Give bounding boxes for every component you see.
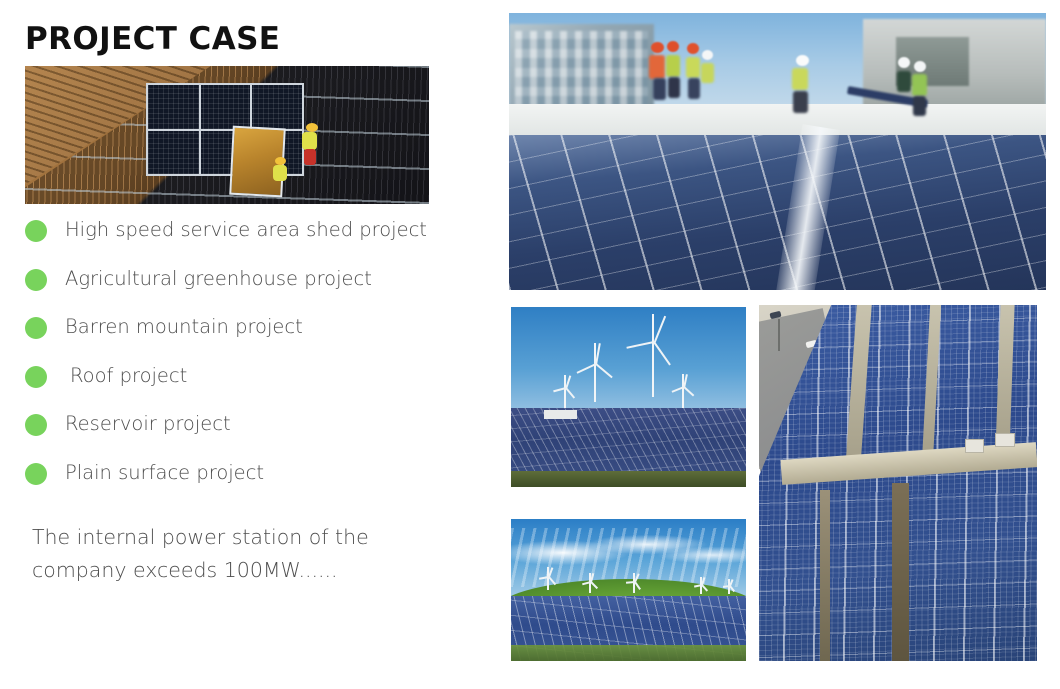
- list-item-label: Agricultural greenhouse project: [65, 267, 372, 291]
- project-case-slide: PROJECT CASE: [0, 0, 1060, 689]
- turbines-foreground-grass: [511, 471, 746, 487]
- worker-1-helmet: [306, 123, 318, 132]
- turbines-sky: [511, 307, 746, 419]
- turbines-service-shed: [544, 410, 577, 419]
- summary-line-2: company exceeds 100MW......: [32, 554, 452, 587]
- hills-wind-turbine-3: [626, 573, 642, 593]
- turbine-blade: [702, 585, 709, 592]
- page-title: PROJECT CASE: [25, 21, 280, 57]
- turbine-blade: [566, 388, 576, 399]
- wind-turbine-medium: [579, 343, 611, 402]
- hills-wind-turbine-2: [582, 573, 598, 593]
- hero-worker-5-legs: [793, 91, 808, 113]
- hero-worker-2-helmet: [667, 41, 679, 52]
- hero-worker-4-vest: [701, 63, 714, 83]
- project-type-list: High speed service area shed project Agr…: [25, 218, 465, 510]
- hero-worker-3-legs: [688, 78, 700, 99]
- hero-worker-1-legs: [653, 78, 666, 100]
- turbine-blade: [653, 316, 666, 345]
- turbine-mast: [682, 374, 684, 408]
- bullet-dot-icon: [25, 463, 47, 485]
- turbines-photo-canvas: [511, 307, 746, 487]
- rooftop-solar-panel-installation-photo: [25, 66, 429, 204]
- worker-1-vest: [302, 132, 317, 150]
- roof-photo-canvas: [25, 66, 429, 204]
- summary-paragraph: The internal power station of the compan…: [32, 521, 452, 587]
- hero-worker-7-legs: [913, 96, 926, 116]
- worker-2-vest: [273, 165, 287, 181]
- list-item[interactable]: High speed service area shed project: [25, 218, 465, 267]
- turbine-blade: [548, 577, 556, 586]
- turbine-blade: [723, 585, 730, 588]
- hero-foreground-panels: [509, 135, 1046, 290]
- hills-wind-turbine-5: [723, 579, 736, 595]
- turbine-mast: [564, 375, 566, 407]
- wind-turbines-solar-farm-photo: [511, 307, 746, 487]
- hero-worker-2-vest: [666, 55, 680, 77]
- list-item-label: High speed service area shed project: [65, 218, 427, 242]
- hero-worker-5-vest: [792, 68, 808, 90]
- aerial-rooftop-solar-array-photo: [759, 305, 1037, 661]
- turbine-blade: [634, 581, 641, 590]
- turbine-mast: [652, 314, 654, 397]
- hills-wind-turbine-1: [539, 567, 557, 590]
- list-item[interactable]: Agricultural greenhouse project: [25, 267, 465, 316]
- bullet-dot-icon: [25, 220, 47, 242]
- list-item[interactable]: Barren mountain project: [25, 315, 465, 364]
- bullet-dot-icon: [25, 366, 47, 388]
- rooftop-workers-solar-array-photo: [509, 13, 1046, 290]
- turbine-blade: [683, 386, 694, 396]
- summary-line-1: The internal power station of the: [32, 521, 452, 554]
- aerial-light-pole: [778, 319, 780, 351]
- aerial-walkway-vertical-4: [892, 483, 909, 661]
- aerial-roof-equipment-1: [965, 439, 984, 453]
- green-hills-solar-farm-photo: [511, 519, 746, 661]
- aerial-walkway-vertical-5: [820, 490, 829, 661]
- aerial-roof-equipment-2: [995, 433, 1014, 447]
- hills-photo-canvas: [511, 519, 746, 661]
- list-item-label: Reservoir project: [65, 412, 231, 436]
- wind-turbine-large: [633, 314, 673, 397]
- hero-photo-canvas: [509, 13, 1046, 290]
- list-item[interactable]: Roof project: [25, 364, 465, 413]
- bullet-dot-icon: [25, 269, 47, 291]
- list-item-label: Barren mountain project: [65, 315, 303, 339]
- hero-worker-7-vest: [912, 74, 927, 96]
- hero-worker-5-helmet: [796, 55, 809, 66]
- hero-glass-building: [509, 24, 654, 115]
- list-item-label: Plain surface project: [65, 461, 264, 485]
- wind-turbine-small-left: [553, 375, 577, 407]
- turbine-mast: [594, 343, 596, 402]
- turbine-blade: [653, 342, 671, 366]
- bullet-dot-icon: [25, 317, 47, 339]
- hero-worker-1-vest: [649, 55, 665, 79]
- bullet-dot-icon: [25, 414, 47, 436]
- list-item-label: Roof project: [70, 364, 187, 388]
- list-item[interactable]: Plain surface project: [25, 461, 465, 510]
- hills-wind-turbine-4: [694, 577, 708, 594]
- hero-worker-2-legs: [668, 77, 680, 98]
- hero-worker-6-body: [897, 71, 911, 92]
- hills-foreground-grass: [511, 645, 746, 661]
- list-item[interactable]: Reservoir project: [25, 412, 465, 461]
- wind-turbine-small-right: [671, 374, 695, 408]
- worker-1-legs: [304, 149, 316, 165]
- aerial-photo-canvas: [759, 305, 1037, 661]
- turbine-blade: [595, 363, 612, 378]
- hero-worker-3-vest: [686, 57, 700, 78]
